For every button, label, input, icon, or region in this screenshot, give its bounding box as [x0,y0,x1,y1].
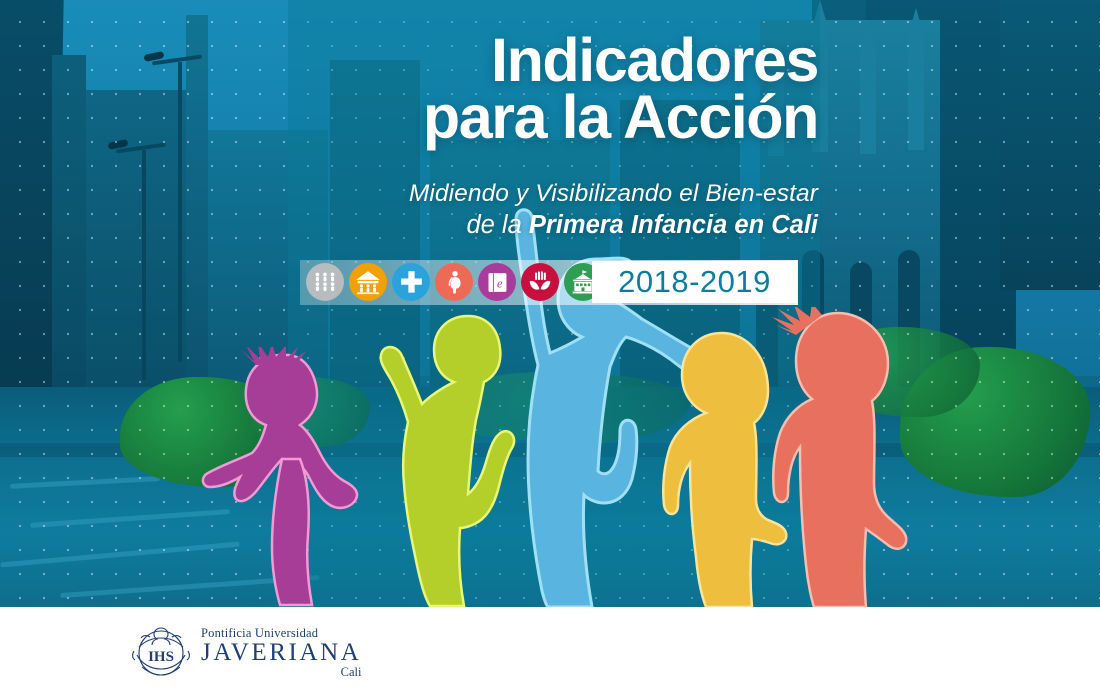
subtitle-line-1: Midiendo y Visibilizando el Bien-estar [330,180,818,208]
page-title: Indicadores para la Acción [368,32,818,147]
javeriana-line-1: Pontificia Universidad [201,627,361,640]
protection-hands-icon[interactable] [521,263,559,301]
javeriana-line-2: JAVERIANA [201,640,361,666]
family-home-icon[interactable] [349,263,387,301]
title-line-1: Indicadores [368,32,818,89]
javeriana-crest-icon: IHS [130,621,192,685]
child-silhouette-purple [196,347,376,607]
footer-logo-bar: IHS Pontificia Universidad JAVERIANA Cal… [0,607,1100,700]
education-book-icon[interactable]: e [478,263,516,301]
poster-root: Indicadores para la Acción Midiendo y Vi… [0,0,1100,700]
svg-text:e: e [497,276,503,290]
subtitle-prefix: de la [466,211,528,239]
logo-javeriana[interactable]: IHS Pontificia Universidad JAVERIANA Cal… [130,621,361,685]
subtitle-line-2: de la Primera Infancia en Cali [330,211,818,240]
javeriana-line-3: Cali [201,666,361,679]
year-badge: 2018-2019 [592,261,797,303]
indicator-icon-row: e [306,263,602,301]
child-silhouette-coral [760,307,935,607]
pregnancy-icon[interactable] [435,263,473,301]
year-range-label: 2018-2019 [618,264,771,300]
svg-text:IHS: IHS [148,649,174,665]
population-group-icon[interactable] [306,263,344,301]
title-line-2: para la Acción [368,89,818,146]
health-cross-icon[interactable] [392,263,430,301]
subtitle-emphasis: Primera Infancia en Cali [529,211,818,239]
